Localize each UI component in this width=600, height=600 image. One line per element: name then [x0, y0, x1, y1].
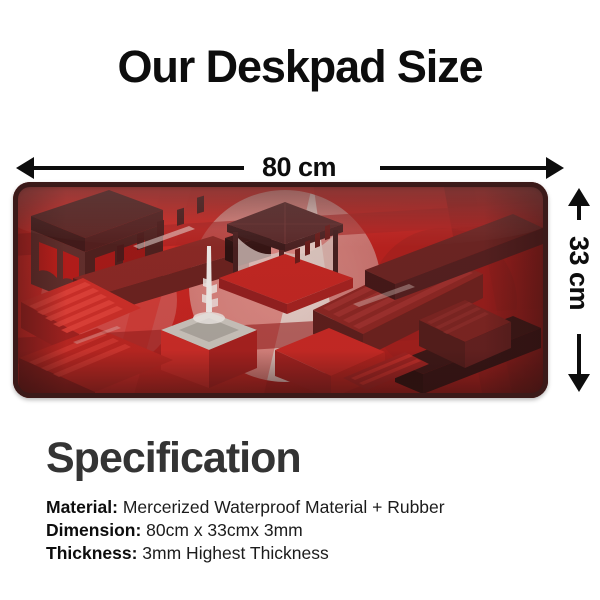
width-line-right — [380, 166, 554, 170]
spec-value-dimension: 80cm x 33cmx 3mm — [141, 520, 302, 540]
page-title: Our Deskpad Size — [0, 44, 600, 89]
spec-value-material: Mercerized Waterproof Material + Rubber — [118, 497, 445, 517]
spec-label-material: Material: — [46, 497, 118, 517]
height-dimension-label: 33 cm — [562, 220, 596, 326]
spec-label-dimension: Dimension: — [46, 520, 141, 540]
deskpad-product-image — [13, 182, 548, 398]
width-dimension-label: 80 cm — [244, 150, 354, 184]
spec-row-thickness: Thickness: 3mm Highest Thickness — [46, 542, 566, 565]
width-line-left — [26, 166, 250, 170]
spec-label-thickness: Thickness: — [46, 543, 137, 563]
arrow-right-icon — [546, 157, 564, 179]
arrow-down-icon — [568, 374, 590, 392]
specification-heading: Specification — [46, 436, 301, 481]
width-dimension-indicator: 80 cm — [16, 150, 564, 186]
spec-value-thickness: 3mm Highest Thickness — [137, 543, 328, 563]
spec-row-material: Material: Mercerized Waterproof Material… — [46, 496, 566, 519]
specification-list: Material: Mercerized Waterproof Material… — [46, 496, 566, 565]
escher-isometric-artwork — [13, 182, 548, 398]
height-dimension-indicator: 33 cm — [562, 188, 596, 392]
spec-row-dimension: Dimension: 80cm x 33cmx 3mm — [46, 519, 566, 542]
